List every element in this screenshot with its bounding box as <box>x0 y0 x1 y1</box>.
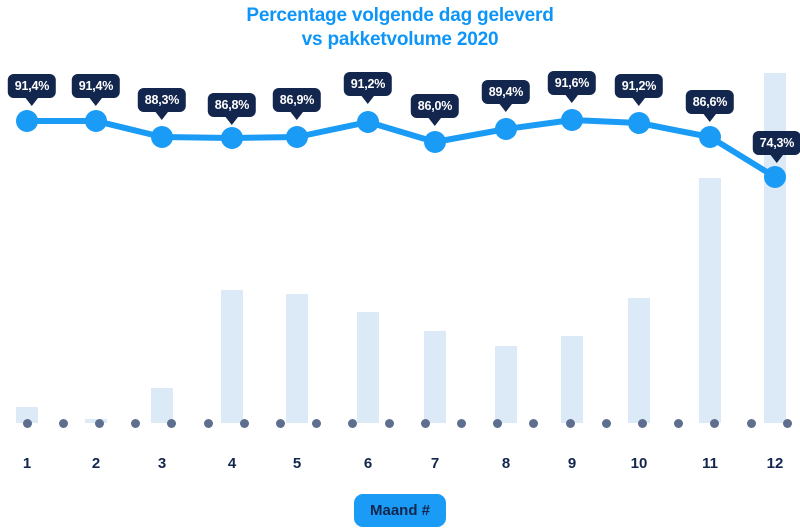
x-axis-tick-label: 12 <box>767 455 784 472</box>
x-axis-tick-label: 5 <box>293 455 301 472</box>
x-axis-tick-label: 2 <box>92 455 100 472</box>
x-axis-tick-label: 9 <box>568 455 576 472</box>
plot-area: 91,4%91,4%88,3%86,8%86,9%91,2%86,0%89,4%… <box>0 0 800 440</box>
data-point-marker[interactable] <box>699 126 721 148</box>
data-label-tooltip: 88,3% <box>138 88 186 112</box>
data-point-marker[interactable] <box>628 112 650 134</box>
data-label-tooltip: 91,4% <box>72 74 120 98</box>
line-series-layer <box>0 0 800 440</box>
data-label-tooltip: 86,9% <box>273 88 321 112</box>
data-point-marker[interactable] <box>495 118 517 140</box>
data-label-tooltip: 89,4% <box>482 80 530 104</box>
data-label-tooltip: 86,0% <box>411 94 459 118</box>
data-label-tooltip: 91,2% <box>344 72 392 96</box>
data-point-marker[interactable] <box>286 126 308 148</box>
x-axis-tick-label: 8 <box>502 455 510 472</box>
x-axis-tick-label: 7 <box>431 455 439 472</box>
x-axis-tick-label: 11 <box>702 455 718 472</box>
data-point-marker[interactable] <box>561 109 583 131</box>
data-point-marker[interactable] <box>221 127 243 149</box>
data-label-tooltip: 74,3% <box>753 131 800 155</box>
data-label-tooltip: 91,2% <box>615 74 663 98</box>
x-axis-tick-label: 10 <box>631 455 648 472</box>
data-label-tooltip: 91,4% <box>8 74 56 98</box>
percentage-line <box>27 120 775 177</box>
data-label-tooltip: 86,8% <box>208 93 256 117</box>
x-axis-tick-label: 3 <box>158 455 166 472</box>
data-point-marker[interactable] <box>16 110 38 132</box>
x-axis-title-pill: Maand # <box>354 494 446 527</box>
data-point-marker[interactable] <box>85 110 107 132</box>
x-axis-tick-label: 6 <box>364 455 372 472</box>
x-axis-tick-label: 4 <box>228 455 236 472</box>
data-point-marker[interactable] <box>424 131 446 153</box>
data-point-marker[interactable] <box>764 166 786 188</box>
data-label-tooltip: 86,6% <box>686 90 734 114</box>
chart-root: Percentage volgende dag geleverd vs pakk… <box>0 0 800 532</box>
data-point-marker[interactable] <box>151 126 173 148</box>
data-label-tooltip: 91,6% <box>548 71 596 95</box>
data-point-marker[interactable] <box>357 111 379 133</box>
x-axis-tick-label: 1 <box>23 455 31 472</box>
